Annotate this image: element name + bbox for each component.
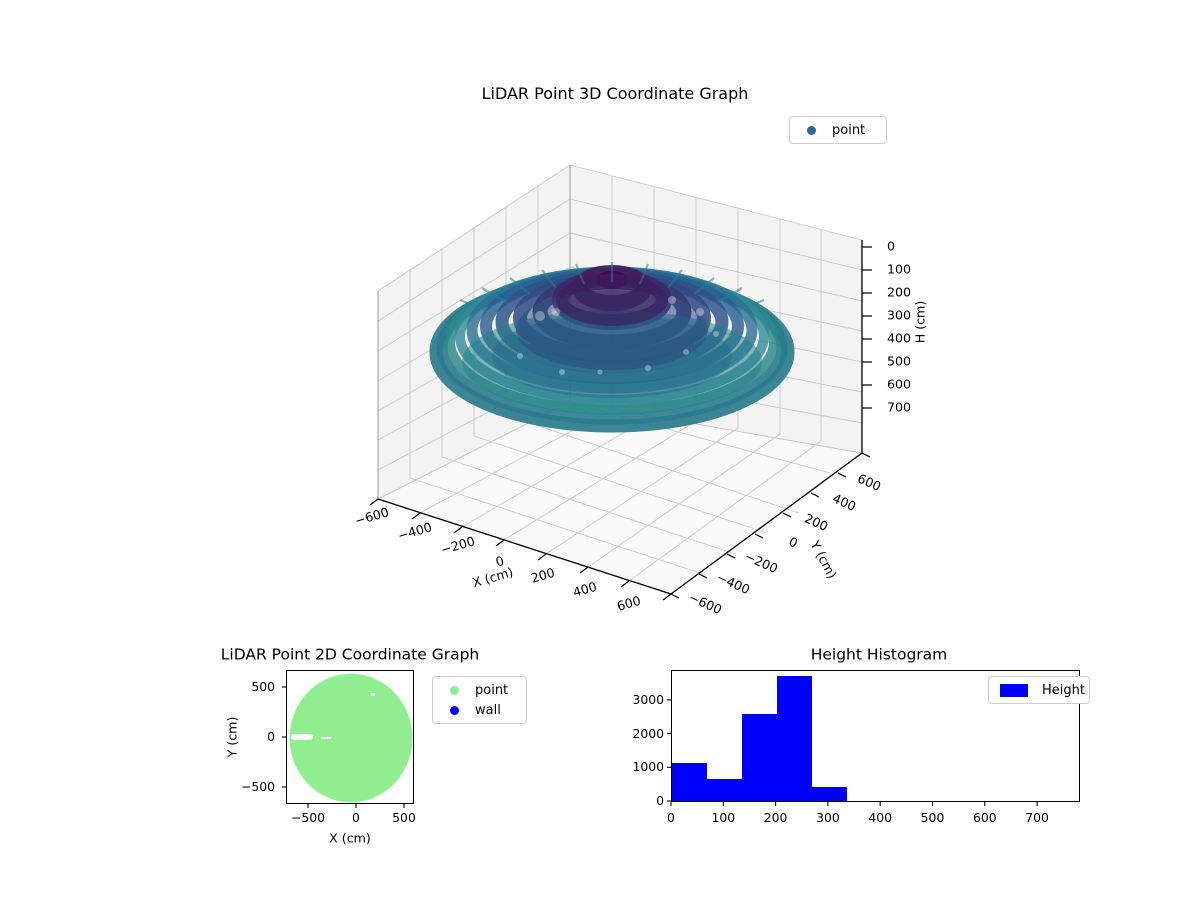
legend-2d-label-point: point — [475, 683, 508, 698]
z3d-tick-7: 700 — [887, 402, 911, 415]
legend-2d[interactable]: point wall — [432, 676, 527, 724]
legend-3d-label-point: point — [832, 123, 865, 138]
legend-2d-label-wall: wall — [475, 703, 501, 718]
z3d-axis-label: H (cm) — [915, 301, 928, 344]
legend-hist-item-height[interactable]: Height — [998, 682, 1080, 698]
y2d-axis-label: Y (cm) — [227, 717, 240, 758]
z3d-tick-0: 0 — [887, 241, 895, 254]
xhist-tick-0: 0 — [667, 812, 675, 824]
axes-2d-ticks — [270, 660, 440, 825]
y2d-tick-0: 500 — [251, 681, 275, 693]
x2d-tick-1: 0 — [352, 812, 360, 824]
legend-hist-label-height: Height — [1042, 683, 1085, 698]
xhist-tick-5: 500 — [921, 812, 945, 824]
z3d-tick-4: 400 — [887, 333, 911, 346]
point-marker-icon — [807, 126, 816, 135]
legend-2d-item-wall[interactable]: wall — [442, 702, 517, 718]
x2d-tick-2: 500 — [392, 812, 416, 824]
legend-2d-item-point[interactable]: point — [442, 682, 517, 698]
legend-histogram[interactable]: Height — [988, 676, 1090, 704]
z3d-tick-2: 200 — [887, 287, 911, 300]
xhist-tick-2: 200 — [764, 812, 788, 824]
y2d-tick-1: 0 — [267, 731, 275, 743]
x2d-axis-label: X (cm) — [329, 833, 371, 846]
z3d-tick-3: 300 — [887, 310, 911, 323]
xhist-tick-3: 300 — [816, 812, 840, 824]
yhist-tick-2: 2000 — [632, 728, 664, 740]
figure-canvas: LiDAR Point 3D Coordinate Graph — [0, 0, 1200, 900]
yhist-tick-3: 3000 — [632, 694, 664, 706]
point-marker-icon — [450, 686, 459, 695]
z3d-tick-5: 500 — [887, 356, 911, 369]
yhist-tick-0: 0 — [656, 795, 664, 807]
legend-3d[interactable]: point — [789, 116, 887, 144]
y2d-tick-2: −500 — [241, 781, 275, 793]
xhist-tick-6: 600 — [973, 812, 997, 824]
xhist-tick-1: 100 — [711, 812, 735, 824]
xhist-tick-4: 400 — [868, 812, 892, 824]
ticks-z-3d — [862, 247, 872, 408]
height-patch-icon — [1000, 684, 1028, 697]
x2d-tick-0: −500 — [291, 812, 325, 824]
z3d-tick-1: 100 — [887, 264, 911, 277]
legend-3d-item-point[interactable]: point — [799, 122, 877, 138]
z3d-tick-6: 600 — [887, 379, 911, 392]
axes-3d — [0, 0, 1200, 640]
xhist-tick-7: 700 — [1025, 812, 1049, 824]
yhist-tick-1: 1000 — [632, 761, 664, 773]
wall-marker-icon — [450, 706, 459, 715]
